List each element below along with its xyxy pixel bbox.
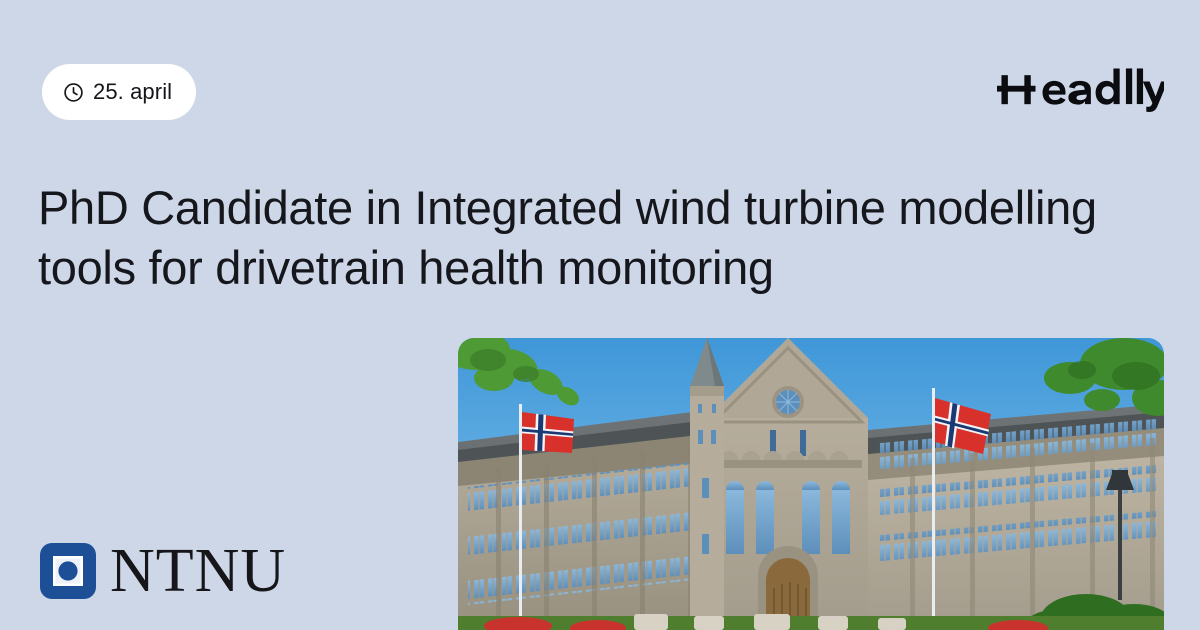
ntnu-mark-icon bbox=[40, 543, 96, 599]
ntnu-building-illustration bbox=[458, 338, 1164, 630]
date-badge: 25. april bbox=[42, 64, 196, 120]
headly-wordmark-icon bbox=[997, 64, 1164, 112]
headly-logo bbox=[997, 64, 1164, 112]
clock-icon bbox=[63, 82, 84, 103]
hero-image bbox=[458, 338, 1164, 630]
page-title: PhD Candidate in Integrated wind turbine… bbox=[38, 178, 1108, 298]
ntnu-wordmark: NTNU bbox=[110, 540, 286, 602]
ntnu-logo: NTNU bbox=[40, 540, 286, 602]
date-label: 25. april bbox=[93, 79, 172, 105]
